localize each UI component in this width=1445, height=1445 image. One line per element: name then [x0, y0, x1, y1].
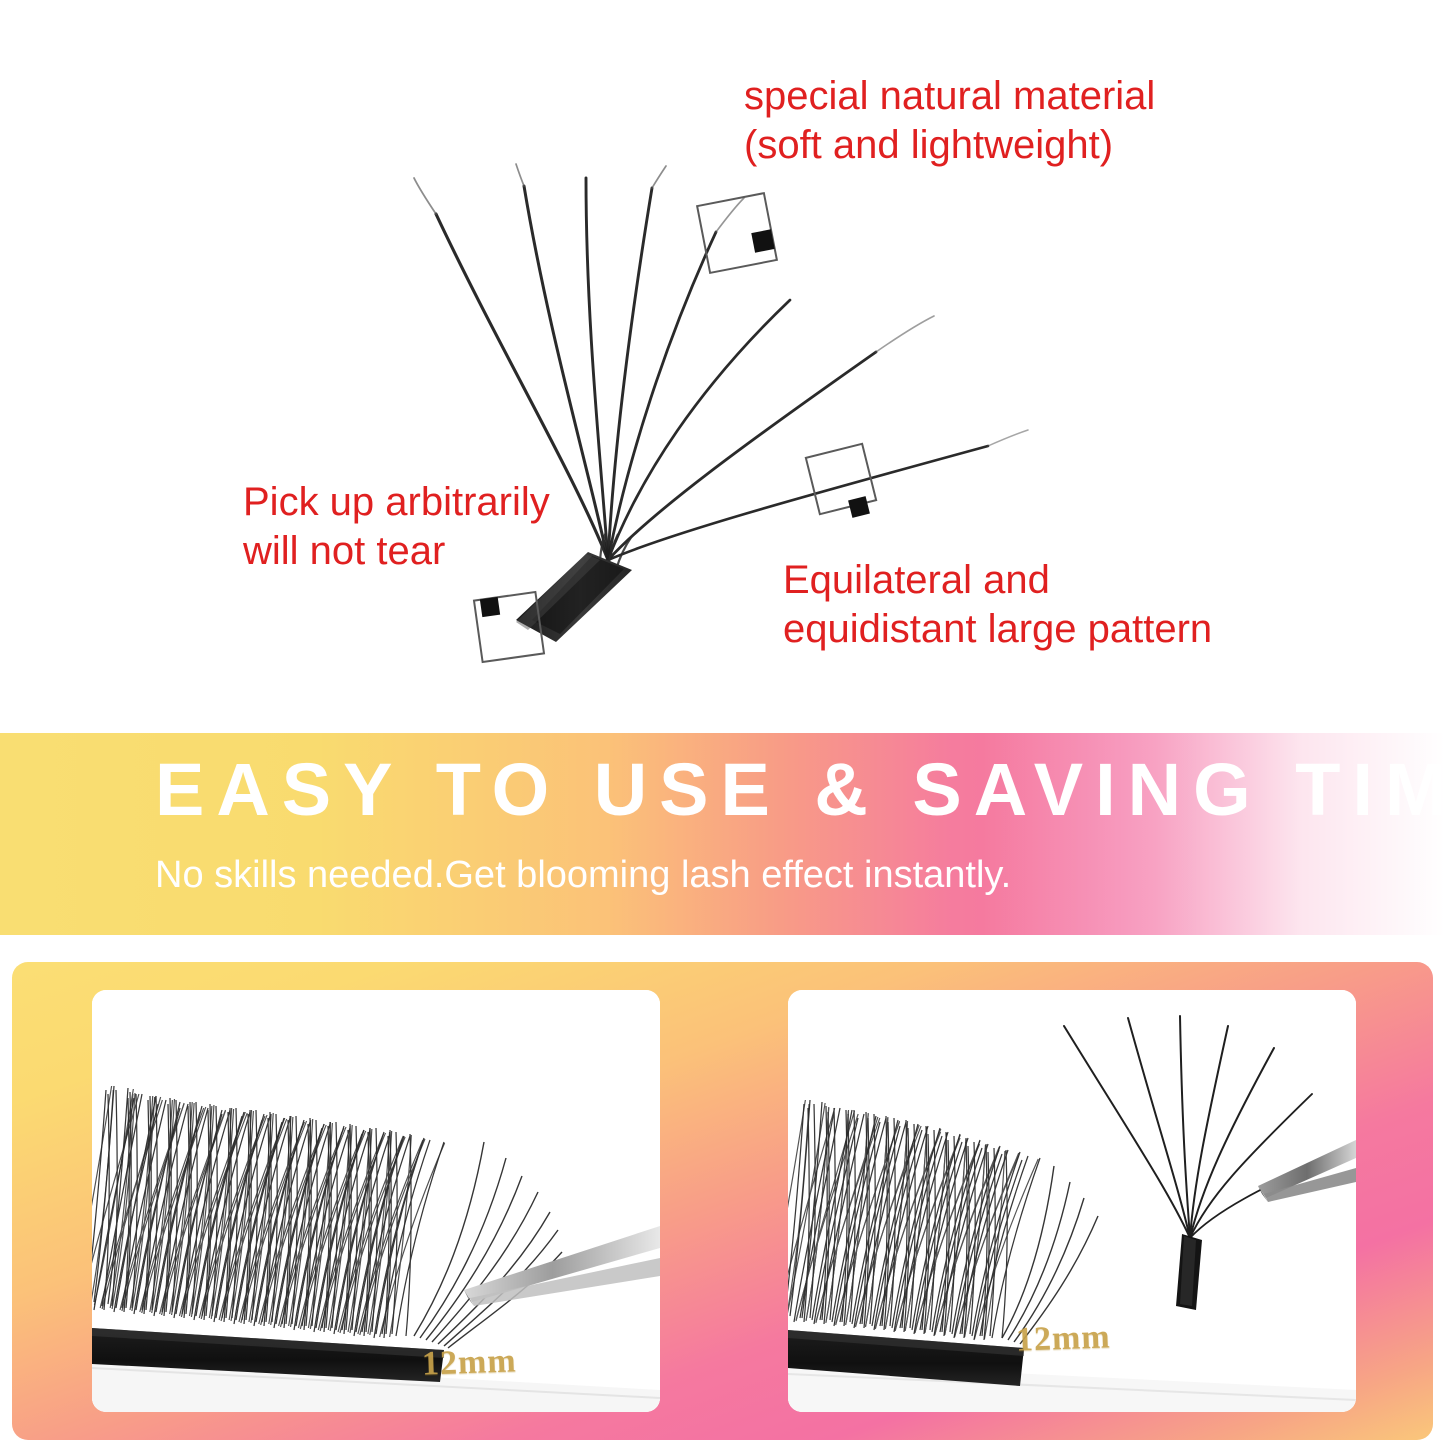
- callout-pick-up-arbitrarily: Pick up arbitrarily will not tear: [243, 478, 550, 576]
- banner-section: EASY TO USE & SAVING TIME No skills need…: [0, 733, 1445, 935]
- photo-card-lash-tray-closeup[interactable]: 12mm: [92, 990, 660, 1412]
- lash-strand-tips: [414, 164, 1028, 446]
- photo-card-lash-fan-pickup[interactable]: 12mm: [788, 990, 1356, 1412]
- lash-strip-tray-photo: [92, 990, 660, 1412]
- banner-subtitle: No skills needed.Get blooming lash effec…: [155, 854, 1011, 897]
- banner-title: EASY TO USE & SAVING TIME: [155, 752, 1445, 827]
- size-label-right: 12mm: [1015, 1318, 1111, 1359]
- callout-special-natural-material: special natural material (soft and light…: [744, 72, 1155, 170]
- size-label-left: 12mm: [421, 1342, 517, 1383]
- photo-gallery-panel: 12mm: [12, 962, 1433, 1440]
- callout-equilateral-equidistant: Equilateral and equidistant large patter…: [783, 556, 1212, 654]
- lash-fan-illustration: [0, 0, 1445, 733]
- feature-diagram-section: special natural material (soft and light…: [0, 0, 1445, 733]
